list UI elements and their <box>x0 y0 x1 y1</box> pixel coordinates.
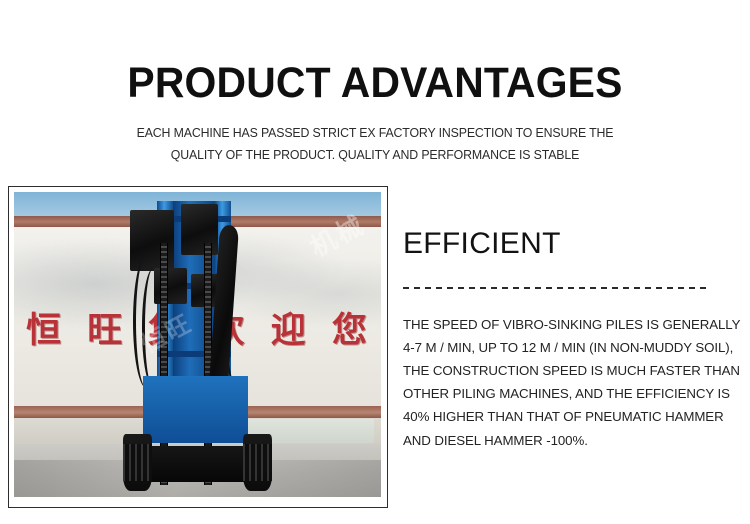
mural-char-6: 您 <box>332 302 369 353</box>
product-photo: 恒 旺 集 欢 迎 您 <box>14 192 381 497</box>
page-subtitle-line-2: QUALITY OF THE PRODUCT. QUALITY AND PERF… <box>125 145 625 167</box>
advantage-info-block: EFFICIENT THE SPEED OF VIBRO-SINKING PIL… <box>403 228 715 452</box>
description-line: 40% HIGHER THAN THAT OF PNEUMATIC HAMMER <box>403 405 715 428</box>
machine-undercarriage <box>137 446 259 482</box>
description-line: THE SPEED OF VIBRO-SINKING PILES IS GENE… <box>403 313 715 336</box>
machine-body <box>143 376 248 442</box>
page-subtitle: EACH MACHINE HAS PASSED STRICT EX FACTOR… <box>125 123 625 166</box>
page-subtitle-line-1: EACH MACHINE HAS PASSED STRICT EX FACTOR… <box>125 123 625 145</box>
page-title: PRODUCT ADVANTAGES <box>19 62 732 106</box>
crawler-track-right <box>243 434 272 491</box>
description-line: 4-7 M / MIN, UP TO 12 M / MIN (IN NON-MU… <box>403 336 715 359</box>
dashed-divider <box>403 287 708 289</box>
description-line: AND DIESEL HAMMER -100%. <box>403 429 715 452</box>
advantage-description: THE SPEED OF VIBRO-SINKING PILES IS GENE… <box>403 313 715 452</box>
description-line: OTHER PILING MACHINES, AND THE EFFICIENC… <box>403 382 715 405</box>
advantage-title: EFFICIENT <box>403 228 715 260</box>
description-line: THE CONSTRUCTION SPEED IS MUCH FASTER TH… <box>403 359 715 382</box>
page-header: PRODUCT ADVANTAGES EACH MACHINE HAS PASS… <box>0 0 750 166</box>
product-photo-frame: 恒 旺 集 欢 迎 您 <box>8 186 388 508</box>
pile-driver-machine <box>113 195 282 497</box>
crawler-track-left <box>123 434 152 491</box>
mural-char-1: 恒 <box>26 302 63 353</box>
drill-head-right <box>181 204 218 255</box>
